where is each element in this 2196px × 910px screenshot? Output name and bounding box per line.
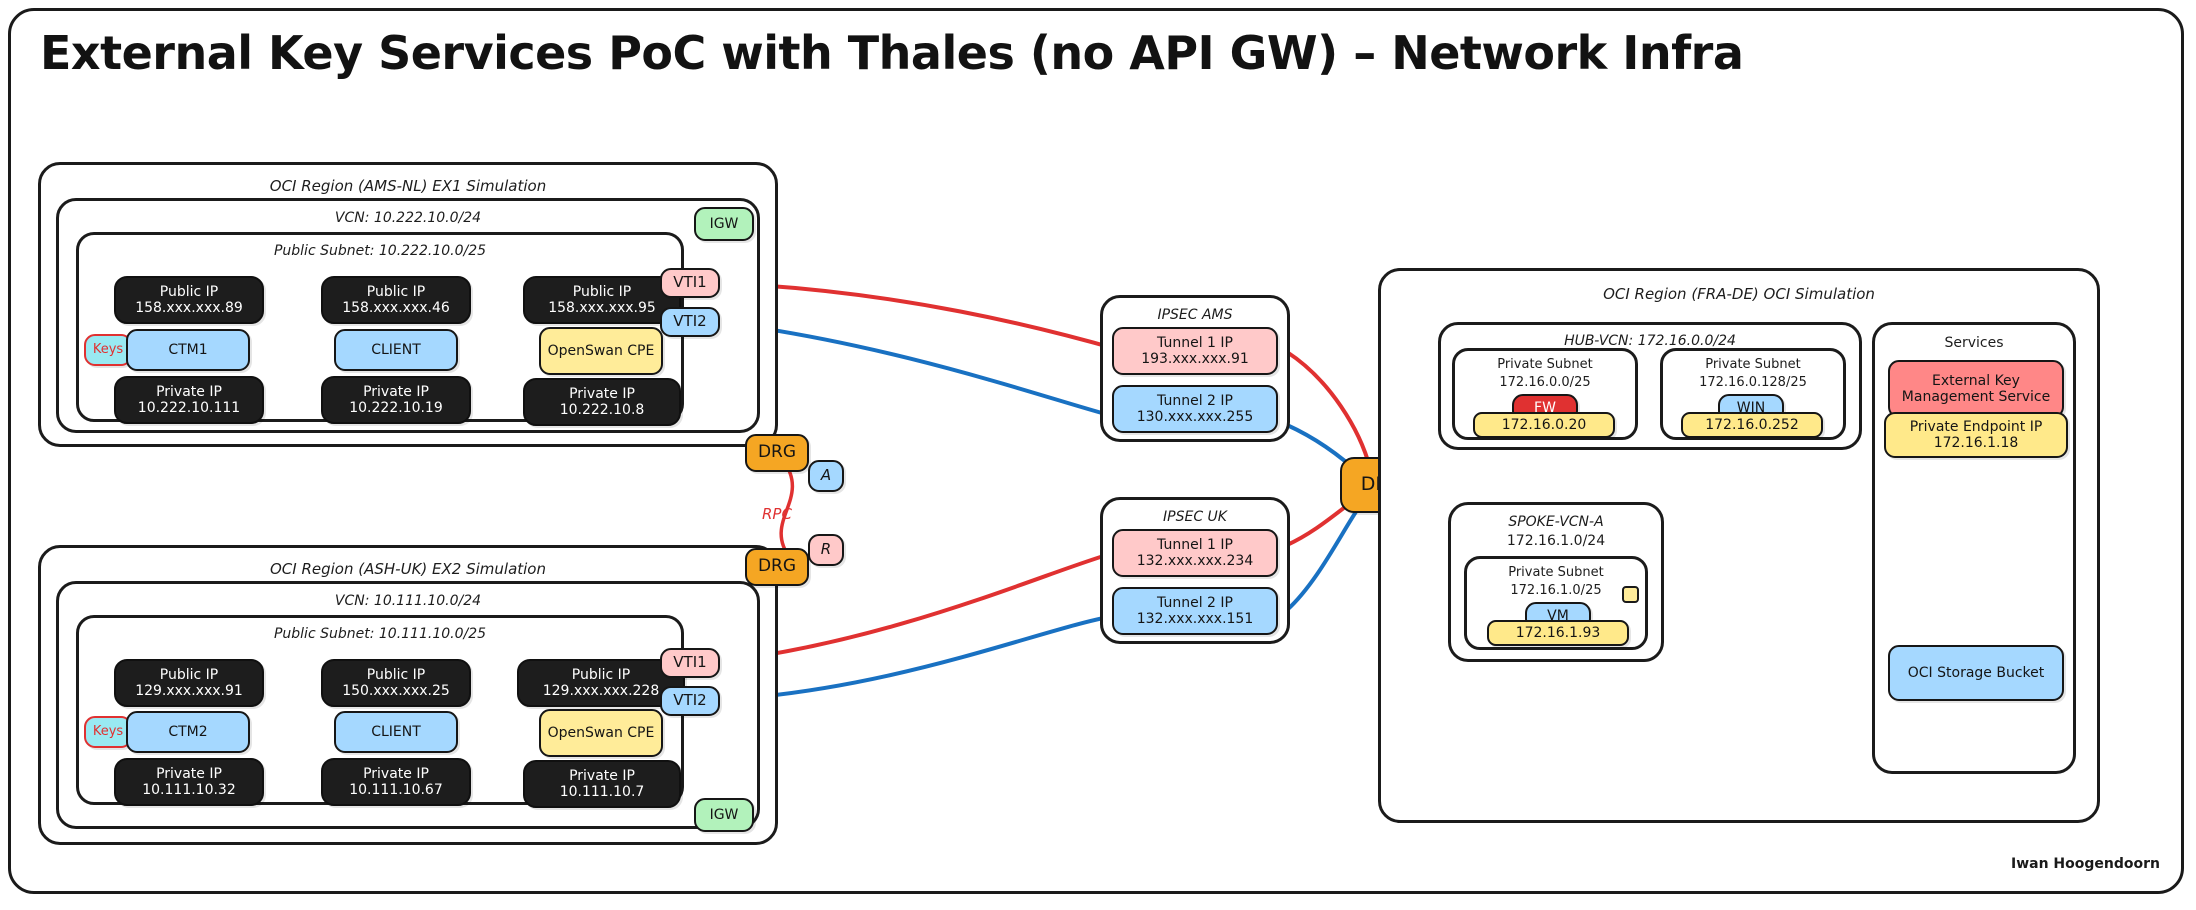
ex2-host1-public-ip: Public IP 129.xxx.xxx.91 [114, 659, 264, 707]
ex1-host2-public-ip: Public IP 158.xxx.xxx.46 [321, 276, 471, 324]
ex1-vti1[interactable]: VTI1 [660, 268, 720, 298]
ex1-igw[interactable]: IGW [694, 207, 754, 241]
region-ex2-label: OCI Region (ASH-UK) EX2 Simulation [41, 560, 775, 578]
ex2-host3-private-ip: Private IP 10.111.10.7 [523, 760, 681, 808]
ipsec-ams-title: IPSEC AMS [1103, 307, 1287, 323]
ipsec-uk-tunnel2[interactable]: Tunnel 2 IP 132.xxx.xxx.151 [1112, 587, 1278, 635]
page-title: External Key Services PoC with Thales (n… [40, 26, 2160, 80]
ex1-subnet-label: Public Subnet: 10.222.10.0/25 [79, 243, 681, 259]
ex2-drg[interactable]: DRG [745, 548, 809, 586]
diagram-canvas: External Key Services PoC with Thales (n… [0, 0, 2196, 910]
hub-subnet-2-title: Private Subnet [1663, 357, 1843, 372]
ex2-host2-private-ip: Private IP 10.111.10.67 [321, 758, 471, 806]
ex2-drg-badge-r[interactable]: R [808, 534, 844, 566]
ex1-keys-badge[interactable]: Keys [84, 334, 132, 366]
ex2-keys-badge[interactable]: Keys [84, 716, 132, 748]
author-signature: Iwan Hoogendoorn [2011, 856, 2160, 872]
ex2-vcn-label: VCN: 10.111.10.0/24 [59, 593, 757, 609]
ex1-host2-node[interactable]: CLIENT [334, 329, 458, 371]
ex1-host3-public-ip: Public IP 158.xxx.xxx.95 [523, 276, 681, 324]
ex1-vti2[interactable]: VTI2 [660, 307, 720, 337]
services-title: Services [1875, 335, 2073, 351]
spoke-vcn-name: SPOKE-VCN-A [1451, 514, 1661, 530]
private-endpoint-ip: Private Endpoint IP 172.16.1.18 [1884, 412, 2068, 458]
rpc-label: RPC [762, 505, 792, 523]
ipsec-ams-tunnel2[interactable]: Tunnel 2 IP 130.xxx.xxx.255 [1112, 385, 1278, 433]
spoke-node-ip: 172.16.1.93 [1487, 620, 1629, 646]
hub-subnet-1-ip: 172.16.0.20 [1473, 412, 1615, 438]
ex2-host1-node[interactable]: CTM2 [126, 711, 250, 753]
ex1-vcn-label: VCN: 10.222.10.0/24 [59, 210, 757, 226]
ex2-subnet-label: Public Subnet: 10.111.10.0/25 [79, 626, 681, 642]
hub-subnet-2-ip: 172.16.0.252 [1681, 412, 1823, 438]
ex2-vti1[interactable]: VTI1 [660, 648, 720, 678]
spoke-vcn-cidr: 172.16.1.0/24 [1451, 533, 1661, 549]
ex1-drg-badge-a[interactable]: A [808, 460, 844, 492]
ex1-host1-private-ip: Private IP 10.222.10.111 [114, 376, 264, 424]
ex1-drg[interactable]: DRG [745, 434, 809, 472]
region-fra-label: OCI Region (FRA-DE) OCI Simulation [1381, 285, 2097, 303]
hub-subnet-2-cidr: 172.16.0.128/25 [1663, 375, 1843, 390]
spoke-subnet-title: Private Subnet [1467, 565, 1645, 580]
hub-subnet-1-title: Private Subnet [1455, 357, 1635, 372]
spoke-endpoint-connector[interactable] [1622, 586, 1639, 603]
ex1-host1-public-ip: Public IP 158.xxx.xxx.89 [114, 276, 264, 324]
oci-storage-bucket[interactable]: OCI Storage Bucket [1888, 645, 2064, 701]
hub-subnet-1-cidr: 172.16.0.0/25 [1455, 375, 1635, 390]
ex2-host2-public-ip: Public IP 150.xxx.xxx.25 [321, 659, 471, 707]
ex1-host3-private-ip: Private IP 10.222.10.8 [523, 378, 681, 426]
ex2-host1-private-ip: Private IP 10.111.10.32 [114, 758, 264, 806]
ipsec-uk-tunnel1[interactable]: Tunnel 1 IP 132.xxx.xxx.234 [1112, 529, 1278, 577]
ex1-host2-private-ip: Private IP 10.222.10.19 [321, 376, 471, 424]
external-key-management-service[interactable]: External Key Management Service [1888, 360, 2064, 418]
ipsec-ams-tunnel1[interactable]: Tunnel 1 IP 193.xxx.xxx.91 [1112, 327, 1278, 375]
ex1-host1-node[interactable]: CTM1 [126, 329, 250, 371]
ex2-vti2[interactable]: VTI2 [660, 686, 720, 716]
ipsec-uk-title: IPSEC UK [1103, 509, 1287, 525]
ex2-igw[interactable]: IGW [694, 798, 754, 832]
spoke-subnet-cidr: 172.16.1.0/25 [1467, 583, 1645, 598]
ex2-host3-node[interactable]: OpenSwan CPE [539, 709, 663, 757]
region-ex1-label: OCI Region (AMS-NL) EX1 Simulation [41, 177, 775, 195]
ex2-host2-node[interactable]: CLIENT [334, 711, 458, 753]
ex1-host3-node[interactable]: OpenSwan CPE [539, 327, 663, 375]
hub-vcn-label: HUB-VCN: 172.16.0.0/24 [1441, 333, 1859, 349]
